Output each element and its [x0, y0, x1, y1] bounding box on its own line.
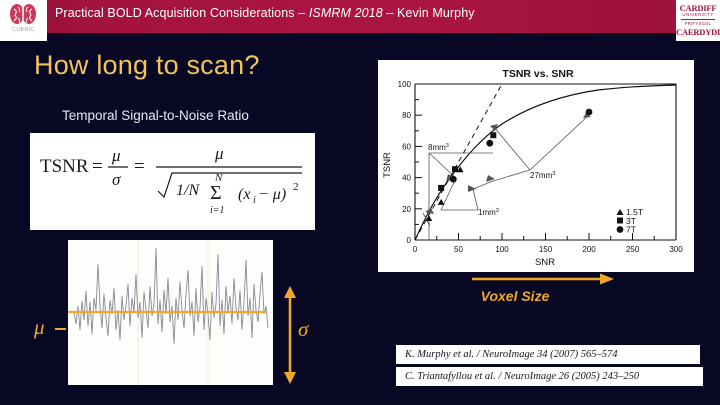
y-tick-20: 20 [402, 205, 411, 214]
sigma-annotation-label: σ [298, 317, 308, 342]
equation-term-mid: − μ) [258, 186, 286, 203]
y-tick-0: 0 [407, 236, 412, 245]
x-tick-300: 300 [669, 245, 683, 254]
chart-title: TSNR vs. SNR [502, 68, 574, 80]
mu-leader-line [55, 328, 66, 330]
x-tick-200: 200 [582, 245, 596, 254]
page-title: How long to scan? [34, 50, 260, 81]
point-3T-8mm3 [452, 166, 458, 172]
annotation-1mm3: 1mm3 [478, 208, 499, 217]
tsnr-equation-figure: TSNR = μ σ = μ 1/N N Σ i=1 (x i − μ) 2 [30, 133, 315, 230]
brain-icon [9, 3, 37, 27]
x-tick-0: 0 [413, 245, 418, 254]
legend-marker-square [617, 218, 623, 224]
point-7T-1mm3 [450, 176, 457, 183]
slide-subtitle: Temporal Signal-to-Noise Ratio [62, 108, 249, 123]
header-title-conference: ISMRM 2018 [309, 6, 383, 20]
header-title-part1: Practical BOLD Acquisition Consideration… [55, 6, 309, 20]
equation-equals-2: = [134, 156, 145, 177]
mu-annotation-label: μ [34, 315, 45, 340]
equation-equals-1: = [92, 156, 103, 177]
cardiff-logo-line3: PRIFYSGOL [676, 21, 720, 26]
equation-sum-lower: i=1 [210, 205, 225, 216]
voxel-size-label: Voxel Size [155, 288, 720, 304]
cardiff-logo-line2: UNIVERSITY [676, 12, 720, 17]
equation-lhs: TSNR [40, 156, 89, 177]
tsnr-equation-panel: TSNR = μ σ = μ 1/N N Σ i=1 (x i − μ) 2 [30, 133, 315, 230]
chart-y-axis-label: TSNR [382, 152, 393, 178]
y-tick-40: 40 [402, 174, 411, 183]
voxel-size-arrow-icon [470, 272, 615, 286]
annotation-8mm3: 8mm3 [428, 143, 449, 152]
equation-numerator-2: μ [214, 144, 224, 163]
equation-sum-symbol: Σ [210, 182, 222, 204]
citation-triantafyllou: C. Triantafyllou et al. / NeuroImage 26 … [396, 367, 703, 386]
legend-marker-circle [617, 226, 624, 233]
x-tick-150: 150 [539, 245, 553, 254]
point-3T-27mm3 [490, 132, 496, 138]
x-tick-50: 50 [454, 245, 463, 254]
x-tick-100: 100 [495, 245, 509, 254]
y-tick-100: 100 [398, 80, 412, 89]
legend-label-7T: 7T [626, 225, 636, 235]
cubric-logo-text: CUBRIC [0, 27, 47, 33]
equation-one-over-n: 1/N [176, 182, 200, 199]
tsnr-vs-snr-figure: TSNR vs. SNR 0 20 40 60 80 [378, 60, 694, 272]
citation-murphy: K. Murphy et al. / NeuroImage 34 (2007) … [396, 345, 700, 364]
equation-numerator-1: μ [111, 146, 121, 165]
y-tick-60: 60 [402, 142, 411, 151]
cubric-logo: CUBRIC [0, 0, 47, 41]
equation-denominator-1: σ [112, 170, 121, 189]
cardiff-logo-divider [681, 19, 715, 20]
x-tick-250: 250 [626, 245, 640, 254]
header-title-part2: – Kevin Murphy [383, 6, 475, 20]
y-tick-80: 80 [402, 111, 411, 120]
timeseries-figure [68, 240, 273, 385]
cardiff-university-logo: CARDIFF UNIVERSITY PRIFYSGOL CAERDYDD [676, 0, 720, 41]
point-7T-27mm3 [586, 109, 593, 116]
timeseries-plot [68, 240, 273, 385]
point-3T-1mm3 [438, 185, 444, 191]
equation-term-sup: 2 [293, 181, 299, 193]
header-title: Practical BOLD Acquisition Consideration… [55, 6, 655, 20]
point-7T-8mm3 [486, 140, 493, 147]
chart-x-axis-label: SNR [535, 257, 555, 268]
equation-term-sub: i [253, 195, 256, 206]
cardiff-logo-line4: CAERDYDD [676, 27, 720, 37]
equation-term-open: (x [238, 186, 250, 203]
tsnr-vs-snr-chart: TSNR vs. SNR 0 20 40 60 80 [378, 60, 694, 272]
annotation-27mm3: 27mm3 [530, 171, 555, 180]
